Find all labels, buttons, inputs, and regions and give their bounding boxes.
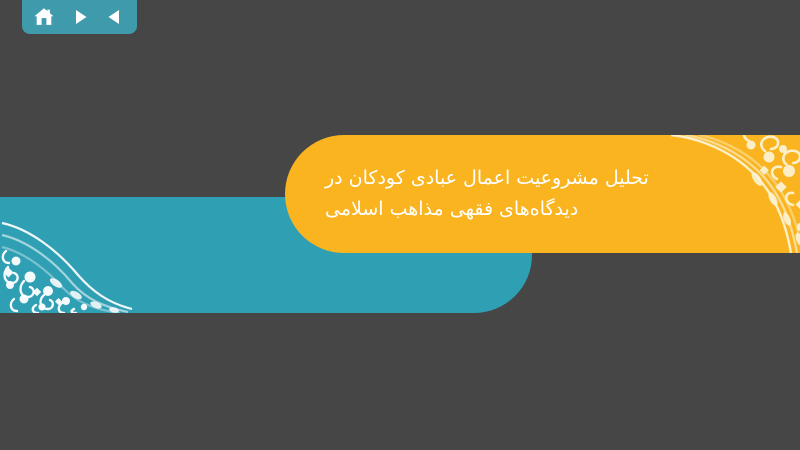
title-line-1: تحلیل مشروعیت اعمال عبادی کودکان در [325,163,649,194]
title-card-panel: تحلیل مشروعیت اعمال عبادی کودکان در دیدگ… [285,135,800,253]
home-button[interactable] [31,4,57,30]
slide-title: تحلیل مشروعیت اعمال عبادی کودکان در دیدگ… [325,135,725,253]
triangle-left-icon [105,7,125,27]
slide-navigation-bar [22,0,137,34]
arabesque-corner-ornament [0,205,150,313]
triangle-right-icon [70,7,90,27]
next-slide-button[interactable] [67,4,93,30]
presentation-slide: تحلیل مشروعیت اعمال عبادی کودکان در دیدگ… [0,0,800,450]
previous-slide-button[interactable] [102,4,128,30]
title-line-2: دیدگاه‌های فقهی مذاهب اسلامی [325,194,578,225]
home-icon [33,6,55,28]
